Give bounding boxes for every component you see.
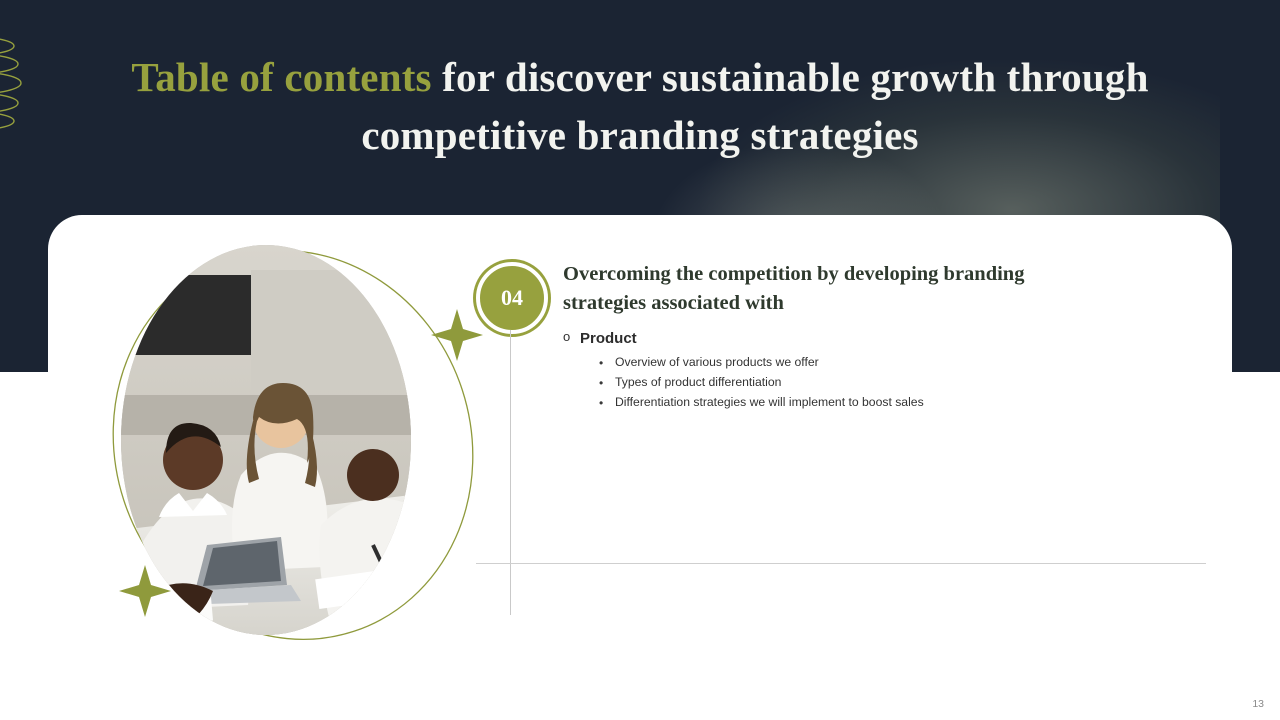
content-card: 04 Overcoming the competition by develop…	[48, 215, 1232, 663]
entry-number-badge: 04	[476, 262, 548, 334]
sub-item-label: Product	[580, 328, 637, 350]
slide: Table of contents for discover sustainab…	[0, 0, 1280, 720]
bullet-dot-icon: •	[599, 394, 615, 412]
entry-heading: Overcoming the competition by developing…	[563, 260, 1063, 318]
entry-content: Overcoming the competition by developing…	[563, 260, 1183, 414]
list-item-text: Types of product differentiation	[615, 374, 781, 391]
horizontal-divider	[476, 563, 1206, 564]
bullet-dot-icon: •	[599, 354, 615, 372]
sub-item-product: o Product	[563, 328, 1183, 350]
list-item-text: Overview of various products we offer	[615, 354, 819, 371]
list-item: • Differentiation strategies we will imp…	[599, 394, 1183, 412]
page-title-rest: for discover sustainable growth through …	[361, 54, 1148, 158]
bullet-list: • Overview of various products we offer …	[599, 354, 1183, 412]
bullet-dot-icon: •	[599, 374, 615, 392]
decorative-arcs-icon	[0, 30, 78, 135]
list-item: • Types of product differentiation	[599, 374, 1183, 392]
list-item-text: Differentiation strategies we will imple…	[615, 394, 924, 411]
list-item: • Overview of various products we offer	[599, 354, 1183, 372]
page-title-accent: Table of contents	[131, 54, 431, 100]
team-meeting-photo	[121, 245, 411, 635]
page-number: 13	[1252, 698, 1264, 710]
vertical-divider	[510, 330, 511, 615]
entry-number: 04	[501, 287, 523, 309]
page-title: Table of contents for discover sustainab…	[90, 48, 1190, 164]
circle-bullet-icon: o	[563, 328, 580, 347]
photo-illustration	[121, 245, 411, 635]
